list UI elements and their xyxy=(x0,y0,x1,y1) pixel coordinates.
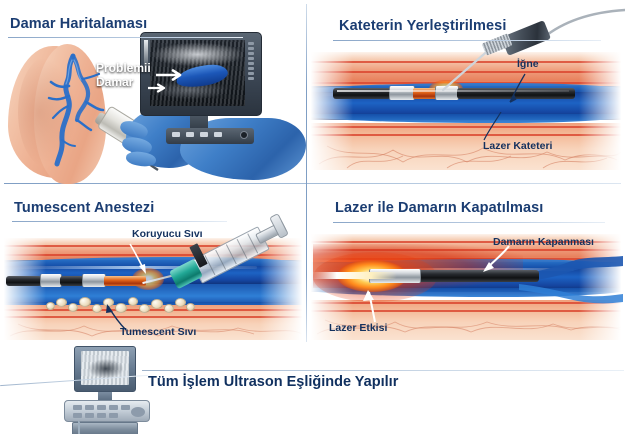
screen-arrow-icon xyxy=(156,68,190,82)
ultrasound-screen xyxy=(150,40,245,106)
catheter-shaft-left-3 xyxy=(6,276,42,286)
label-vein-closure-arrow-icon xyxy=(475,244,511,278)
subdermis-line-1 xyxy=(307,126,625,128)
panel-4-heading-rule xyxy=(333,222,605,223)
panel-3-heading-rule xyxy=(12,221,227,222)
label-protective-fluid-arrow-icon xyxy=(124,242,152,276)
panel-tumescent-anesthesia: Tumescent Anestezi xyxy=(0,184,306,342)
panel-vein-mapping: Damar Haritalaması xyxy=(0,0,306,183)
label-vein-closure: Damarın Kapanması xyxy=(493,236,594,248)
laser-beam xyxy=(311,272,397,279)
label-laser-catheter: Lazer Kateteri xyxy=(483,140,552,152)
label-laser-effect: Lazer Etkisi xyxy=(329,322,387,334)
panel-3-heading: Tumescent Anestezi xyxy=(14,200,154,216)
label-problem-vein-line1: Problemii xyxy=(96,61,151,75)
footer-section: Tüm İşlem Ultrason Eşliğinde Yapılır xyxy=(0,342,625,434)
panel-4-heading: Lazer ile Damarın Kapatılması xyxy=(335,200,543,216)
panel-1-heading: Damar Haritalaması xyxy=(10,16,147,32)
ultrasound-machine-illustration xyxy=(60,346,156,432)
footer-rule-right xyxy=(142,370,624,371)
label-tumescent-fluid: Tumescent Sıvı xyxy=(120,326,196,338)
device-tubing xyxy=(541,8,625,44)
procedure-infographic: Damar Haritalaması xyxy=(0,0,625,434)
catheter-band-3b xyxy=(82,274,106,287)
panel-1-heading-rule xyxy=(8,37,243,38)
dermis-line-3b xyxy=(0,254,306,256)
catheter-marker-band-1 xyxy=(389,86,415,100)
catheter-band-3a xyxy=(40,274,62,287)
panel-catheter-placement: Kateterin Yerleştirilmesi xyxy=(307,0,625,183)
panel-2-heading: Kateterin Yerleştirilmesi xyxy=(339,18,506,34)
console-knob[interactable] xyxy=(240,131,248,139)
label-needle-leader-icon xyxy=(503,72,531,106)
label-problem-vein-arrow-icon xyxy=(148,82,172,94)
label-laser-effect-arrow-icon xyxy=(357,288,387,324)
label-problem-vein-line2: Damar xyxy=(96,75,133,89)
label-needle: İğne xyxy=(517,58,539,70)
monitor-side-buttons[interactable] xyxy=(248,42,254,80)
vein-wall-lower xyxy=(307,114,625,123)
label-problem-vein: Problemii Damar xyxy=(96,62,151,89)
panel-laser-closure: Lazer ile Damarın Kapatılması xyxy=(307,184,625,342)
label-laser-catheter-leader-icon xyxy=(481,112,507,142)
panel-2-heading-rule xyxy=(333,40,601,41)
ultrasound-console[interactable] xyxy=(166,128,254,144)
machine-probe-cable xyxy=(78,420,140,434)
subdermis-line-2 xyxy=(307,134,625,136)
footer-caption: Tüm İşlem Ultrason Eşliğinde Yapılır xyxy=(148,374,398,390)
subdermis-line-4b xyxy=(307,310,625,312)
machine-control-panel[interactable] xyxy=(64,400,150,422)
capillary-network xyxy=(307,140,625,170)
label-protective-fluid: Koruyucu Sıvı xyxy=(132,228,203,240)
catheter-mid-3 xyxy=(60,276,84,286)
catheter-fiber-tip-3 xyxy=(104,276,146,286)
